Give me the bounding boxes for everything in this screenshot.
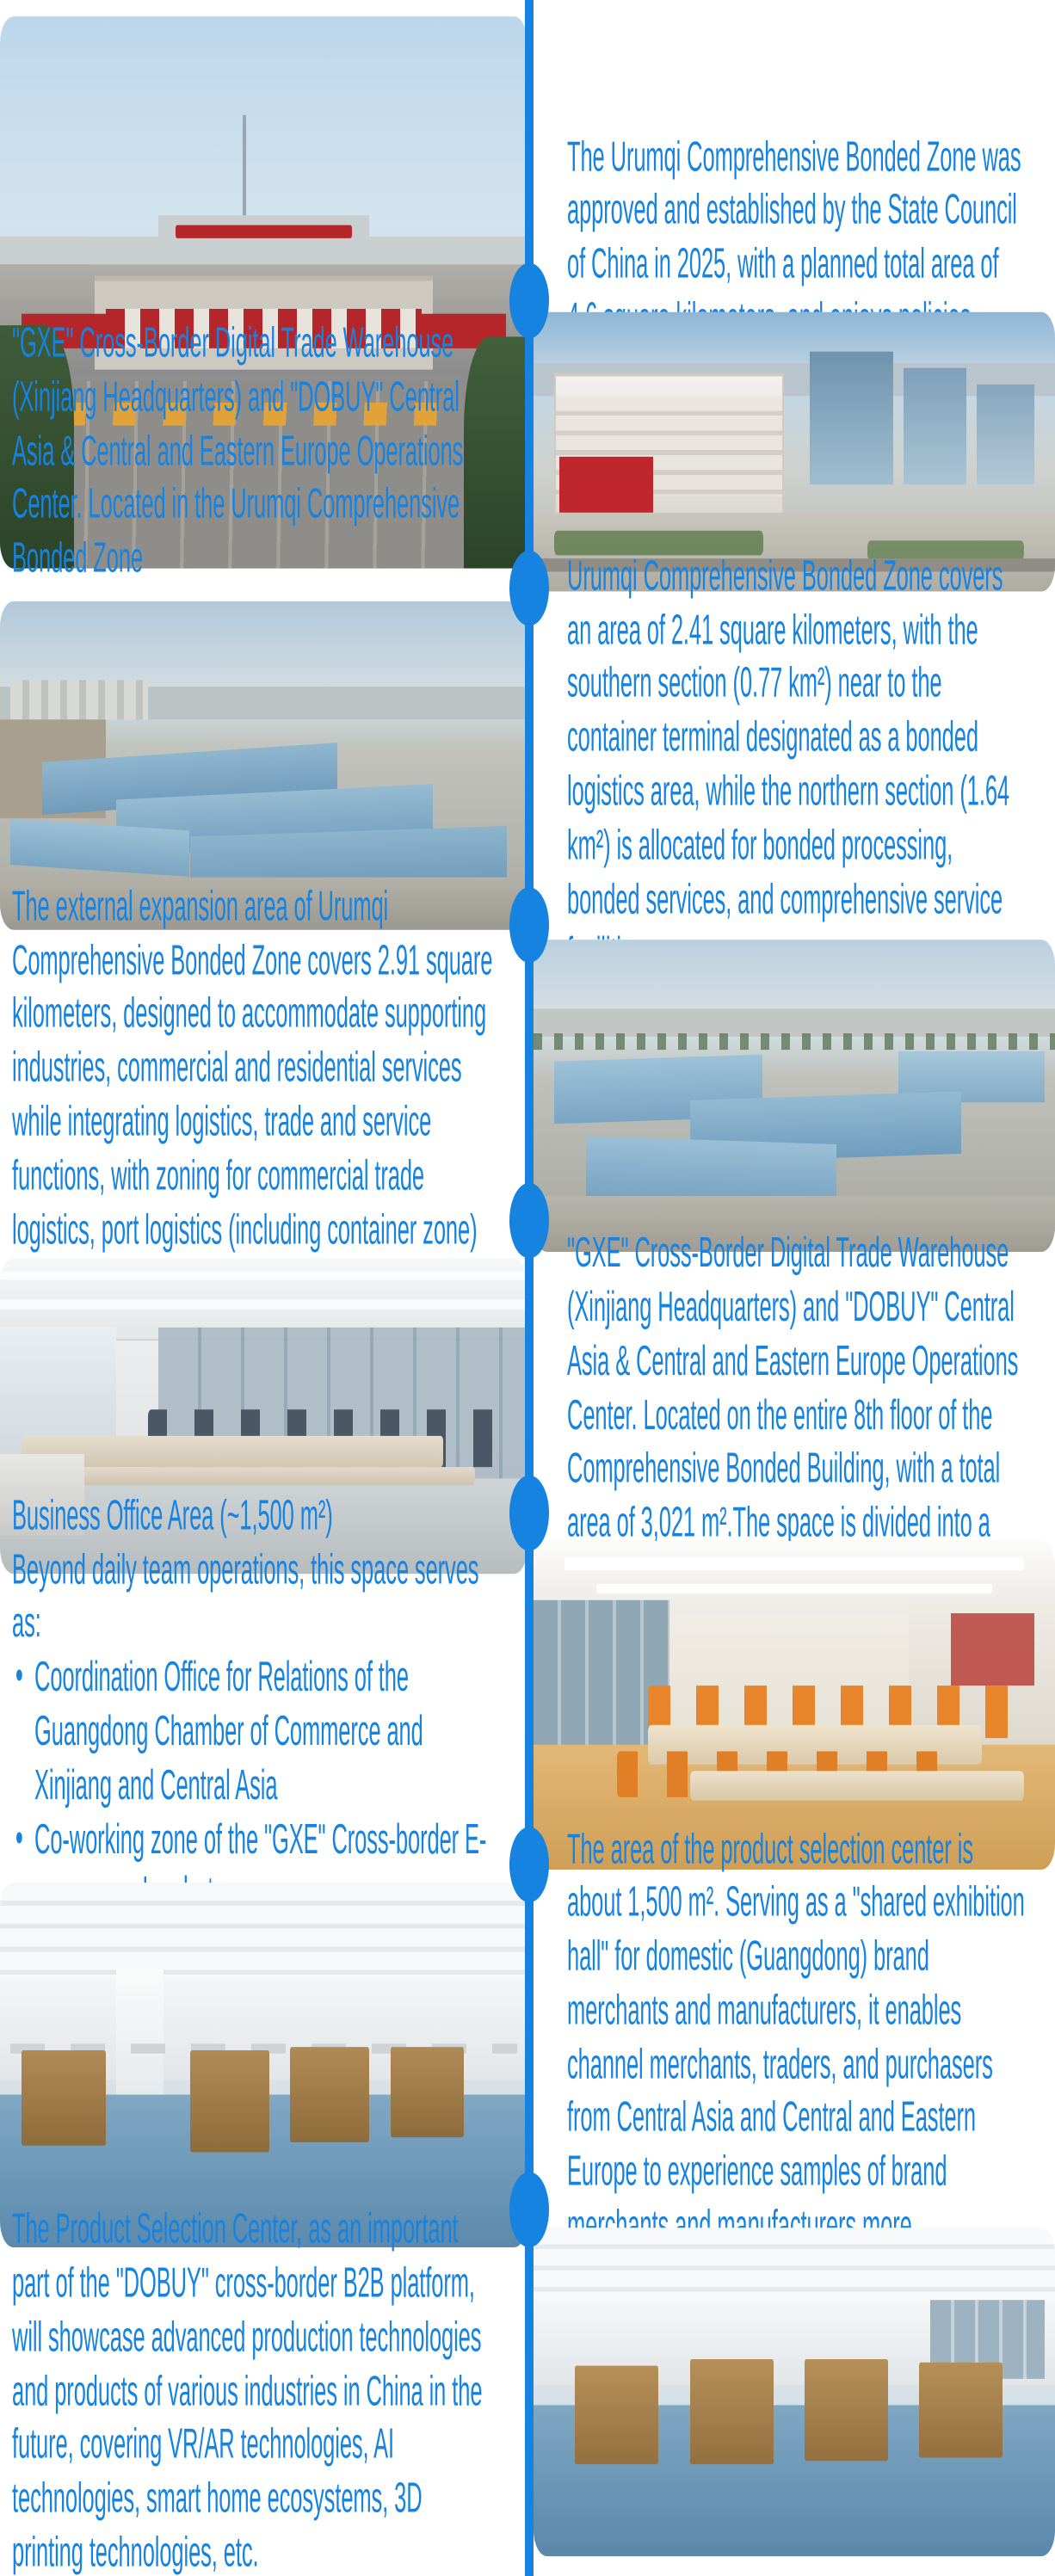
timeline-node-1 (509, 263, 549, 339)
image-meeting-room-orange-chairs-interior (534, 1541, 1055, 1870)
image-product-selection-center-shelving-hall (0, 1883, 527, 2247)
section-6-content: Business Office Area (~1,500 m²) Beyond … (12, 1490, 493, 1921)
section-6-text-cell: Business Office Area (~1,500 m²) Beyond … (0, 1541, 527, 1870)
section-2-text-cell: "GXE" Cross-Border Digital Trade Warehou… (0, 312, 527, 592)
section-3-text-cell: Urumqi Comprehensive Bonded Zone covers … (527, 601, 1055, 930)
section-7-text-cell: The area of the product selection center… (527, 1883, 1055, 2247)
list-item: Coordination Office for Relations of the… (12, 1651, 493, 1813)
infographic-page: The Urumqi Comprehensive Bonded Zone was… (0, 0, 1055, 2576)
section-2-paragraph: "GXE" Cross-Border Digital Trade Warehou… (12, 317, 493, 587)
section-3-paragraph: Urumqi Comprehensive Bonded Zone covers … (567, 551, 1029, 982)
image-product-selection-center-display-racks (534, 2228, 1055, 2556)
section-8-text-cell: The Product Selection Center, as an impo… (0, 2228, 527, 2556)
section-4-text-cell: The external expansion area of Urumqi Co… (0, 940, 527, 1252)
section-7-image-cell (0, 1883, 527, 2247)
section-8-paragraph: The Product Selection Center, as an impo… (12, 2203, 493, 2576)
timeline-node-5 (509, 1476, 549, 1551)
section-6-intro: Beyond daily team operations, this space… (12, 1544, 493, 1651)
section-6-heading: Business Office Area (~1,500 m²) (12, 1490, 493, 1544)
timeline-node-4 (509, 1183, 549, 1259)
image-external-expansion-area-industrial-park-aerial (534, 940, 1055, 1252)
timeline-node-3 (509, 887, 549, 963)
section-4-paragraph: The external expansion area of Urumqi Co… (12, 880, 493, 1311)
section-5-text-cell: "GXE" Cross-Border Digital Trade Warehou… (527, 1259, 1055, 1575)
timeline-node-6 (509, 1827, 549, 1902)
timeline-node-7 (509, 2172, 549, 2247)
timeline-node-2 (509, 551, 549, 626)
section-6-bullet-list: Coordination Office for Relations of the… (12, 1651, 493, 1920)
